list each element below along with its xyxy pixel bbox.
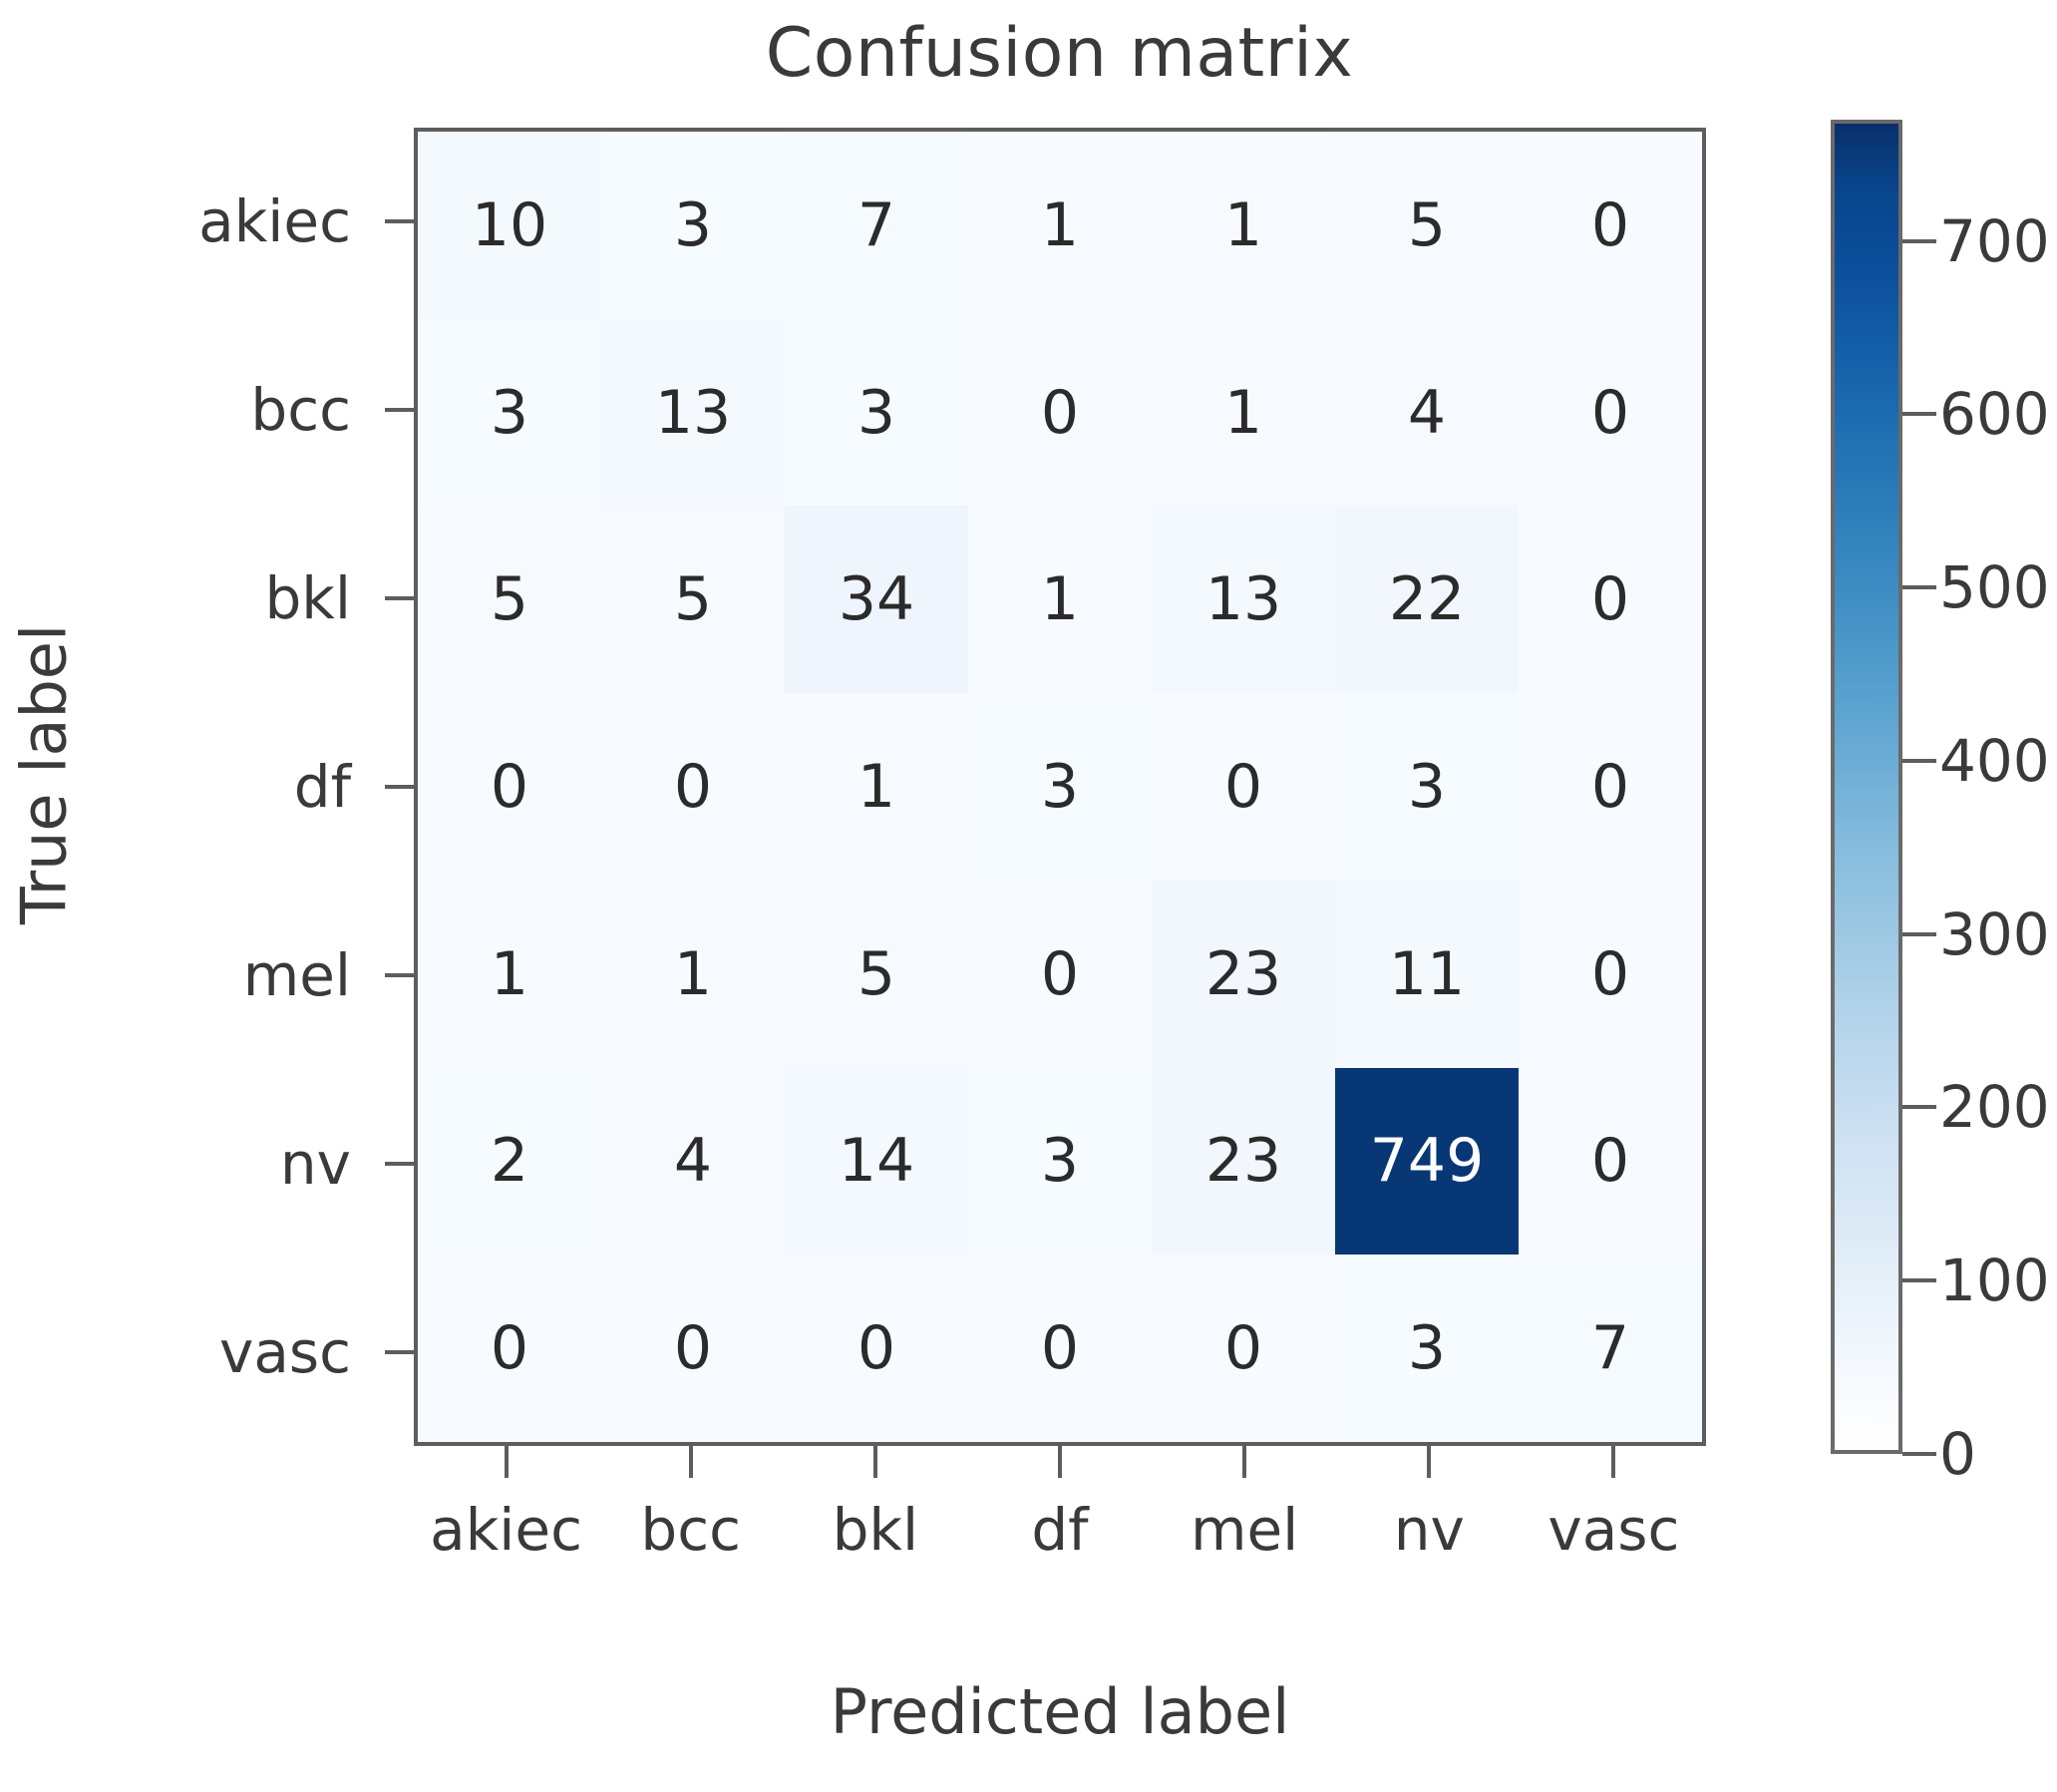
- y-tick-label-vasc: vasc: [140, 1257, 369, 1446]
- x-tick-label-mel: mel: [1153, 1496, 1337, 1606]
- matrix-cell: 5: [601, 506, 785, 693]
- colorbar-tick-label-700: 700: [1939, 207, 2050, 275]
- matrix-cell: 0: [1519, 506, 1702, 693]
- matrix-cell: 1: [601, 881, 785, 1068]
- colorbar-tick-mark: [1902, 932, 1936, 936]
- matrix-cell: 7: [785, 132, 968, 319]
- matrix-cell: 0: [418, 1254, 601, 1442]
- colorbar-tick-label-100: 100: [1939, 1247, 2050, 1314]
- y-tick-mark: [385, 693, 414, 882]
- matrix-cell: 23: [1152, 1068, 1335, 1255]
- y-axis-label: True label: [8, 575, 81, 974]
- y-tick-mark: [385, 1069, 414, 1257]
- matrix-cell: 11: [1335, 881, 1519, 1068]
- matrix-cell: 0: [601, 693, 785, 881]
- y-tick-label-nv: nv: [140, 1069, 369, 1257]
- matrix-cell: 0: [785, 1254, 968, 1442]
- x-axis-label: Predicted label: [414, 1675, 1706, 1748]
- matrix-cell: 4: [1335, 319, 1519, 507]
- tick-mark-icon: [385, 408, 414, 412]
- matrix-cell: 3: [968, 693, 1152, 881]
- x-tick-mark: [414, 1446, 598, 1478]
- x-tick-label-df: df: [967, 1496, 1152, 1606]
- x-tick-mark: [967, 1446, 1152, 1478]
- matrix-cell: 0: [1519, 693, 1702, 881]
- matrix-cell: 2: [418, 1068, 601, 1255]
- y-tick-mark: [385, 128, 414, 316]
- colorbar-tick-mark: [1902, 1278, 1936, 1282]
- matrix-cell: 22: [1335, 506, 1519, 693]
- matrix-cell: 1: [1152, 132, 1335, 319]
- colorbar-tick-label-200: 200: [1939, 1073, 2050, 1141]
- matrix-cell: 0: [1152, 693, 1335, 881]
- matrix-cell: 1: [968, 506, 1152, 693]
- colorbar-gradient: [1831, 120, 1902, 1454]
- colorbar: [1831, 120, 1902, 1454]
- colorbar-tick-label-300: 300: [1939, 900, 2050, 968]
- colorbar-tick-mark: [1902, 1105, 1936, 1109]
- colorbar-tick-mark: [1902, 759, 1936, 763]
- y-axis-tick-marks: [385, 128, 414, 1446]
- matrix-cell: 3: [1335, 693, 1519, 881]
- colorbar-tick-label-500: 500: [1939, 553, 2050, 621]
- colorbar-tick-mark: [1902, 412, 1936, 416]
- matrix-cell: 749: [1335, 1068, 1519, 1255]
- matrix-cell: 0: [1519, 132, 1702, 319]
- matrix-cell: 7: [1519, 1254, 1702, 1442]
- matrix-cell: 0: [601, 1254, 785, 1442]
- confusion-matrix-figure: Confusion matrix True label akiecbccbkld…: [0, 0, 2057, 1792]
- y-tick-label-df: df: [140, 693, 369, 882]
- x-tick-label-bkl: bkl: [783, 1496, 967, 1606]
- x-tick-label-vasc: vasc: [1522, 1496, 1706, 1606]
- matrix-cell: 3: [785, 319, 968, 507]
- matrix-cell: 0: [968, 881, 1152, 1068]
- matrix-cell: 23: [1152, 881, 1335, 1068]
- y-tick-mark: [385, 316, 414, 505]
- y-tick-label-akiec: akiec: [140, 128, 369, 316]
- x-tick-label-nv: nv: [1337, 1496, 1522, 1606]
- x-tick-label-bcc: bcc: [598, 1496, 783, 1606]
- tick-mark-icon: [1427, 1446, 1431, 1478]
- tick-mark-icon: [1242, 1446, 1246, 1478]
- confusion-matrix-grid: 1037115031330140553411322000130301150231…: [418, 132, 1702, 1442]
- matrix-cell: 1: [785, 693, 968, 881]
- colorbar-tick-marks: [1902, 120, 1936, 1454]
- colorbar-tick-label-0: 0: [1939, 1420, 1976, 1488]
- matrix-cell: 0: [1152, 1254, 1335, 1442]
- matrix-cell: 34: [785, 506, 968, 693]
- y-axis-tick-labels: akiecbccbkldfmelnvvasc: [140, 128, 369, 1446]
- heatmap-plot-area: 1037115031330140553411322000130301150231…: [414, 128, 1706, 1446]
- x-tick-mark: [1153, 1446, 1337, 1478]
- y-tick-mark: [385, 1257, 414, 1446]
- matrix-cell: 14: [785, 1068, 968, 1255]
- tick-mark-icon: [385, 219, 414, 223]
- matrix-cell: 5: [785, 881, 968, 1068]
- colorbar-tick-labels: 0100200300400500600700: [1939, 120, 2057, 1454]
- matrix-cell: 0: [1519, 1068, 1702, 1255]
- page-title: Confusion matrix: [414, 14, 1705, 93]
- matrix-cell: 3: [1335, 1254, 1519, 1442]
- colorbar-tick-mark: [1902, 1452, 1936, 1456]
- matrix-cell: 10: [418, 132, 601, 319]
- matrix-cell: 1: [1152, 319, 1335, 507]
- tick-mark-icon: [1611, 1446, 1615, 1478]
- matrix-cell: 13: [601, 319, 785, 507]
- x-axis-tick-labels: akiecbccbkldfmelnvvasc: [414, 1496, 1706, 1606]
- x-tick-mark: [1522, 1446, 1706, 1478]
- colorbar-tick-mark: [1902, 585, 1936, 589]
- x-tick-mark: [1337, 1446, 1522, 1478]
- tick-mark-icon: [385, 1350, 414, 1354]
- matrix-cell: 0: [968, 319, 1152, 507]
- tick-mark-icon: [1058, 1446, 1062, 1478]
- y-tick-label-mel: mel: [140, 881, 369, 1069]
- y-tick-mark: [385, 881, 414, 1069]
- colorbar-tick-label-600: 600: [1939, 380, 2050, 448]
- matrix-cell: 13: [1152, 506, 1335, 693]
- tick-mark-icon: [873, 1446, 877, 1478]
- tick-mark-icon: [385, 973, 414, 977]
- matrix-cell: 1: [418, 881, 601, 1068]
- y-tick-mark: [385, 505, 414, 693]
- matrix-cell: 0: [418, 693, 601, 881]
- matrix-cell: 0: [1519, 319, 1702, 507]
- matrix-cell: 0: [1519, 881, 1702, 1068]
- tick-mark-icon: [505, 1446, 509, 1478]
- x-tick-mark: [783, 1446, 967, 1478]
- matrix-cell: 3: [968, 1068, 1152, 1255]
- matrix-cell: 1: [968, 132, 1152, 319]
- tick-mark-icon: [689, 1446, 693, 1478]
- tick-mark-icon: [385, 785, 414, 789]
- matrix-cell: 4: [601, 1068, 785, 1255]
- y-tick-label-bcc: bcc: [140, 316, 369, 505]
- x-tick-mark: [598, 1446, 783, 1478]
- tick-mark-icon: [385, 1162, 414, 1166]
- matrix-cell: 0: [968, 1254, 1152, 1442]
- matrix-cell: 5: [1335, 132, 1519, 319]
- y-tick-label-bkl: bkl: [140, 505, 369, 693]
- x-axis-tick-marks: [414, 1446, 1706, 1478]
- colorbar-tick-mark: [1902, 239, 1936, 243]
- matrix-cell: 3: [601, 132, 785, 319]
- tick-mark-icon: [385, 596, 414, 600]
- matrix-cell: 3: [418, 319, 601, 507]
- x-tick-label-akiec: akiec: [414, 1496, 598, 1606]
- matrix-cell: 5: [418, 506, 601, 693]
- colorbar-tick-label-400: 400: [1939, 727, 2050, 795]
